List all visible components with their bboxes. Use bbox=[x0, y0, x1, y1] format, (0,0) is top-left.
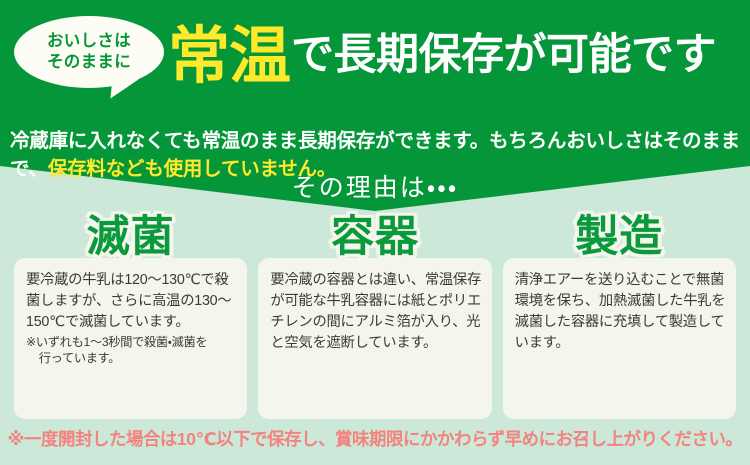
feature-card-note-continued: 行っています。 bbox=[26, 350, 238, 366]
feature-card-body-text: 要冷蔵の牛乳は120〜130℃で殺菌しますが、さらに高温の130〜150℃で滅菌… bbox=[26, 272, 231, 330]
speech-bubble: おいしさは そのままに bbox=[14, 16, 164, 94]
feature-card-body-text: 要冷蔵の容器とは違い、常温保存が可能な牛乳容器には紙とポリエチレンの間にアルミ箔… bbox=[270, 272, 481, 351]
feature-card-manufacturing: 製造 清浄エアーを送り込むことで無菌環境を保ち、加熱滅菌した牛乳を滅菌した容器に… bbox=[503, 258, 736, 419]
feature-card-note-text: ※いずれも1〜3秒間で殺菌・滅菌を bbox=[26, 335, 207, 349]
footer-caution: ※一度開封した場合は10℃以下で保存し、賞味期限にかかわらず早めにお召し上がりく… bbox=[0, 426, 750, 451]
feature-card-sterilization: 滅菌 要冷蔵の牛乳は120〜130℃で殺菌しますが、さらに高温の130〜150℃… bbox=[14, 258, 247, 419]
reason-caption: その理由は・・・ bbox=[0, 168, 750, 204]
feature-card-heading: 製造 bbox=[503, 216, 736, 259]
feature-card-body: 清浄エアーを送り込むことで無菌環境を保ち、加熱滅菌した牛乳を滅菌した容器に充填し… bbox=[515, 270, 727, 353]
speech-bubble-text: おいしさは そのままに bbox=[14, 16, 164, 88]
feature-card-body: 要冷蔵の容器とは違い、常温保存が可能な牛乳容器には紙とポリエチレンの間にアルミ箔… bbox=[270, 270, 482, 353]
page-title-keyword: 常温 bbox=[168, 26, 290, 88]
feature-card-note: ※いずれも1〜3秒間で殺菌・滅菌を 行っています。 bbox=[26, 334, 238, 367]
page-title-rest: で長期保存が可能です bbox=[291, 34, 716, 80]
poster-root: おいしさは そのままに 常温 で長期保存が可能です 冷蔵庫に入れなくても常温のま… bbox=[0, 0, 750, 465]
feature-card-heading: 容器 bbox=[258, 216, 491, 259]
speech-bubble-line-1: おいしさは bbox=[47, 31, 131, 52]
speech-bubble-line-2: そのままに bbox=[47, 52, 131, 73]
feature-card-container: 容器 要冷蔵の容器とは違い、常温保存が可能な牛乳容器には紙とポリエチレンの間にア… bbox=[258, 258, 491, 419]
feature-card-heading: 滅菌 bbox=[14, 216, 247, 259]
feature-card-body: 要冷蔵の牛乳は120〜130℃で殺菌しますが、さらに高温の130〜150℃で滅菌… bbox=[26, 270, 238, 366]
feature-card-list: 滅菌 要冷蔵の牛乳は120〜130℃で殺菌しますが、さらに高温の130〜150℃… bbox=[14, 258, 736, 419]
feature-card-body-text: 清浄エアーを送り込むことで無菌環境を保ち、加熱滅菌した牛乳を滅菌した容器に充填し… bbox=[515, 272, 726, 351]
page-title: 常温 で長期保存が可能です bbox=[168, 18, 746, 96]
